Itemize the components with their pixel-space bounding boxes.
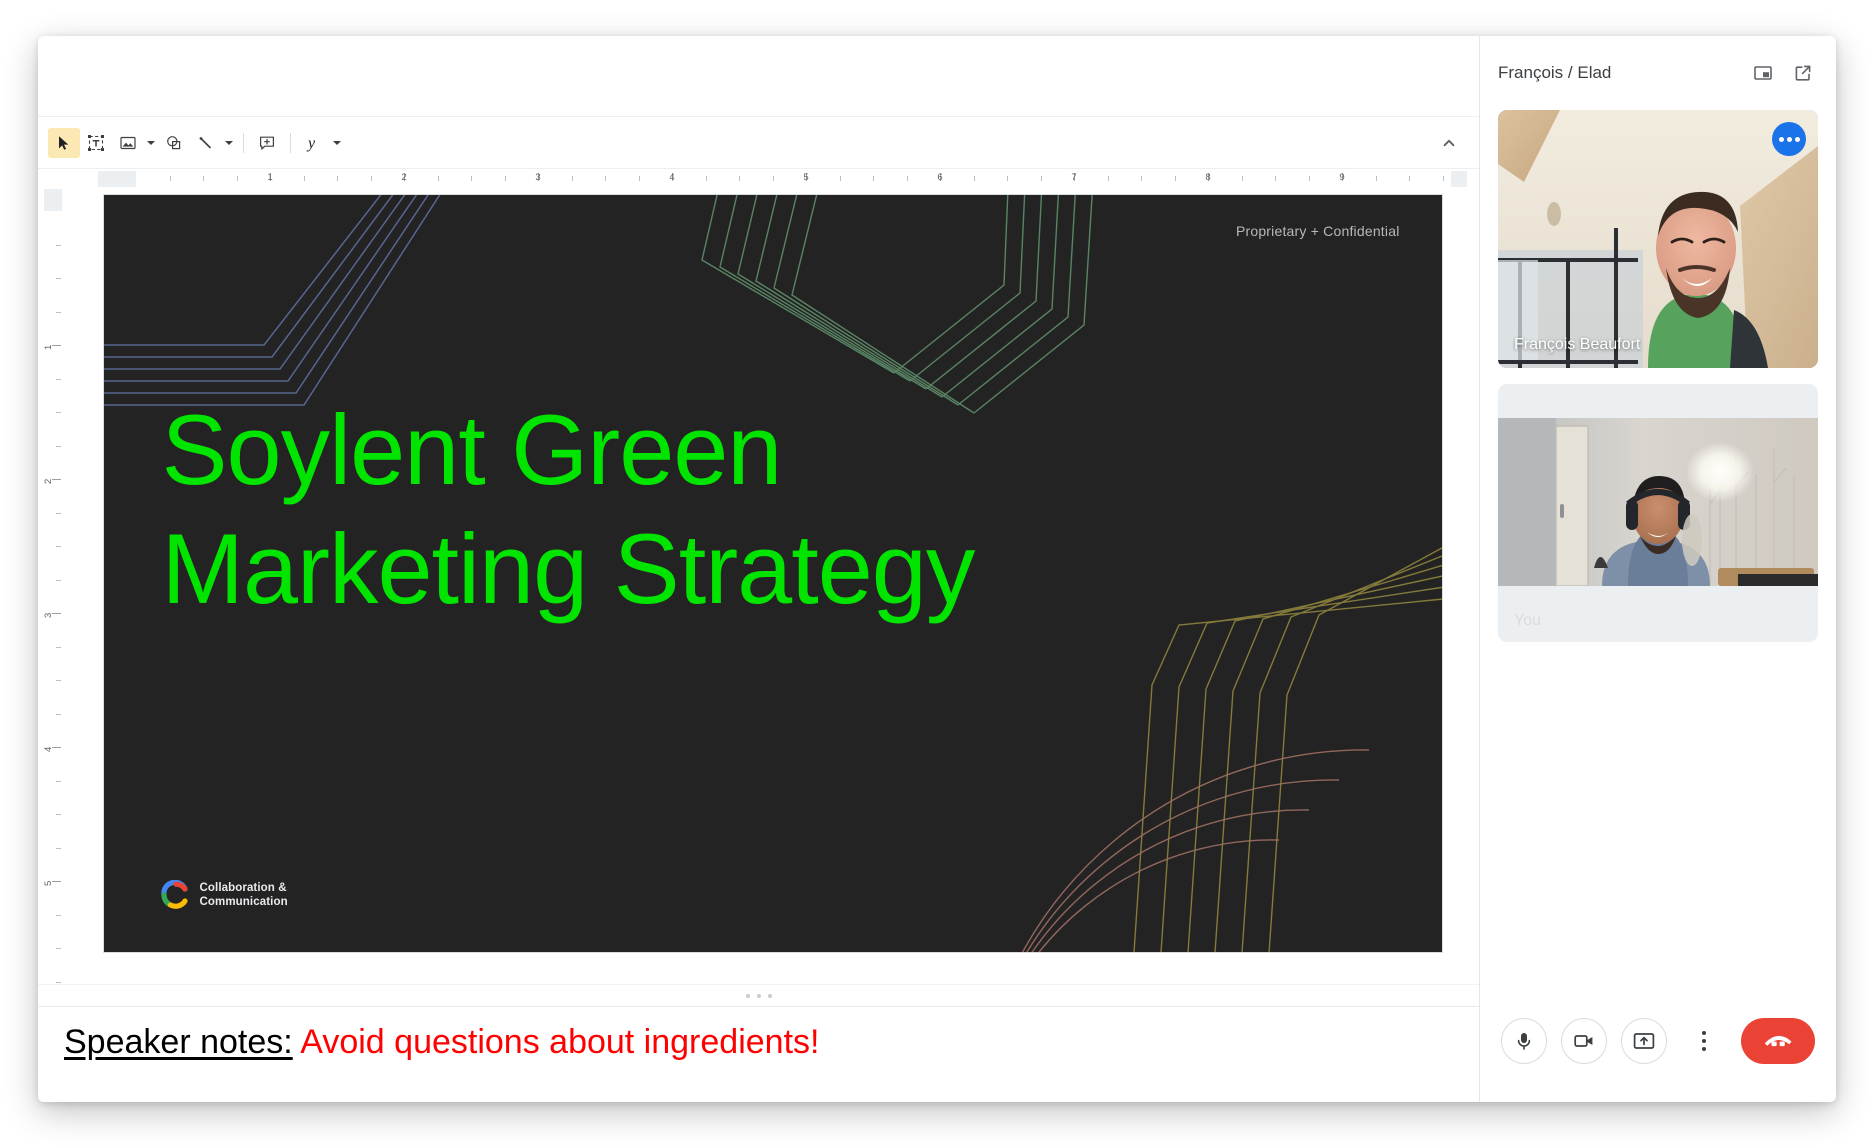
slide-title[interactable]: Soylent Green Marketing Strategy [162,391,1202,629]
ruler-number: 1 [43,345,54,350]
phone-hangup-icon [1762,1025,1794,1057]
ruler-number: 9 [1339,172,1344,183]
ruler-tick [170,176,171,181]
ruler-top-margin [44,189,62,211]
vertical-ruler[interactable]: 12345 [38,189,66,984]
comment-tool[interactable] [251,128,283,158]
participant-tile-you[interactable]: You [1498,384,1818,642]
ruler-tick [1141,176,1142,181]
ruler-number: 4 [43,747,54,752]
speaker-notes-label: Speaker notes: [64,1023,293,1061]
ruler-tick [56,312,61,313]
ruler-tick [56,446,61,447]
ruler-tick [56,948,61,949]
ruler-number: 5 [803,172,808,183]
notes-resize-handle[interactable] [38,984,1479,1006]
ruler-tick [1376,176,1377,181]
slide-canvas[interactable]: Proprietary + Confidential Soylent Green… [66,189,1479,984]
select-tool[interactable] [48,128,80,158]
ruler-tick [56,278,61,279]
present-button[interactable] [1621,1018,1667,1064]
speaker-notes-text: Avoid questions about ingredients! [300,1023,819,1061]
ruler-tick [56,379,61,380]
toolbar-divider [243,133,244,153]
ruler-tick [56,580,61,581]
video-feed-you-wrapper [1498,418,1818,586]
more-horizontal-icon [1779,137,1800,142]
ruler-number: 2 [43,479,54,484]
horizontal-ruler[interactable]: 123456789 [66,169,1479,189]
slide-logo: Collaboration & Communication [160,880,288,910]
pen-tool[interactable]: y [298,128,330,158]
ruler-tick [304,176,305,181]
meet-call-title: François / Elad [1498,63,1738,83]
ruler-tick [1242,176,1243,181]
pen-tool-dropdown[interactable] [330,128,344,158]
ruler-number: 7 [1071,172,1076,183]
image-tool-dropdown[interactable] [144,128,158,158]
tile-more-options-button[interactable] [1772,122,1806,156]
ruler-number: 3 [43,613,54,618]
ruler-tick [56,781,61,782]
meet-header: François / Elad [1480,36,1836,110]
participant-tile-francois[interactable]: François Beaufort [1498,110,1818,368]
slide-logo-text: Collaboration & Communication [200,881,288,910]
picture-in-picture-icon [1753,63,1773,83]
more-options-button[interactable] [1681,1018,1727,1064]
ruler-number: 3 [535,172,540,183]
cursor-arrow-icon [56,135,72,151]
ruler-tick [706,176,707,181]
ruler-left-margin [98,171,136,187]
present-screen-icon [1632,1029,1656,1053]
shape-icon [165,134,183,152]
slide-confidential-label: Proprietary + Confidential [1236,223,1400,239]
google-c-logo-icon [160,880,190,910]
ruler-number: 4 [669,172,674,183]
open-in-new-icon [1793,63,1813,83]
meet-controls [1480,992,1836,1102]
image-icon [119,134,137,152]
ruler-tick [337,176,338,181]
ruler-tick [56,680,61,681]
slide-title-line-1: Soylent Green [162,391,1202,510]
ruler-tick [56,915,61,916]
slide-surface[interactable]: Proprietary + Confidential Soylent Green… [104,195,1442,952]
ruler-number: 2 [401,172,406,183]
ruler-number: 6 [937,172,942,183]
image-tool[interactable] [112,128,144,158]
ruler-tick [1041,176,1042,181]
shape-tool[interactable] [158,128,190,158]
ruler-tick [1175,176,1176,181]
ruler-right-margin [1451,171,1467,187]
speaker-notes[interactable]: Speaker notes: Avoid questions about ing… [38,1006,1479,1102]
ruler-number: 5 [43,881,54,886]
ruler-tick [56,848,61,849]
ruler-tick [56,245,61,246]
ruler-number: 1 [267,172,272,183]
ruler-tick [1007,176,1008,181]
ruler-tick [56,714,61,715]
collapse-menus-button[interactable] [1435,129,1463,157]
text-box-icon [87,134,105,152]
ruler-tick [56,412,61,413]
microphone-icon [1513,1030,1535,1052]
participant-name-you: You [1514,612,1541,630]
ruler-tick [1108,176,1109,181]
camera-button[interactable] [1561,1018,1607,1064]
ruler-tick [974,176,975,181]
ruler-tick [1309,176,1310,181]
ruler-tick [505,176,506,181]
line-tool-dropdown[interactable] [222,128,236,158]
ruler-tick [56,513,61,514]
ruler-tick [56,647,61,648]
slide-logo-text-line-1: Collaboration & [200,881,288,895]
canvas-area: 12345 [38,189,1479,984]
chevron-up-icon [1441,135,1457,151]
slides-editor: y 123456789 12345 [38,36,1480,1102]
line-icon [197,134,215,152]
slides-toolbar: y [38,117,1479,169]
open-in-new-button[interactable] [1788,58,1818,88]
ruler-row: 123456789 [38,169,1479,189]
more-vertical-icon [1702,1031,1706,1051]
add-comment-icon [258,134,276,152]
participant-tiles: François Beaufort [1480,110,1836,992]
ruler-tick [572,176,573,181]
slide-title-line-2: Marketing Strategy [162,510,1202,629]
ruler-tick [840,176,841,181]
ruler-corner [38,169,66,189]
microphone-button[interactable] [1501,1018,1547,1064]
ruler-tick [907,176,908,181]
meet-panel: François / Elad [1480,36,1836,1102]
ruler-tick [56,814,61,815]
ruler-tick [1275,176,1276,181]
curve-pen-icon: y [304,133,324,153]
ruler-tick [873,176,874,181]
ruler-tick [438,176,439,181]
ruler-tick [56,982,61,983]
ruler-tick [605,176,606,181]
editor-top-strip [38,36,1479,117]
ruler-tick [1409,176,1410,181]
video-feed-francois [1498,110,1818,368]
slide-logo-text-line-2: Communication [200,895,288,909]
toolbar-divider-2 [290,133,291,153]
ruler-tick [471,176,472,181]
ruler-tick [739,176,740,181]
picture-in-picture-button[interactable] [1748,58,1778,88]
ruler-tick [203,176,204,181]
ruler-tick [237,176,238,181]
ruler-number: 8 [1205,172,1210,183]
ruler-tick [639,176,640,181]
ruler-tick [1443,176,1444,181]
hangup-button[interactable] [1741,1018,1815,1064]
video-camera-icon [1572,1029,1596,1053]
ruler-tick [773,176,774,181]
textbox-tool[interactable] [80,128,112,158]
ruler-tick [56,546,61,547]
line-tool[interactable] [190,128,222,158]
ruler-tick [371,176,372,181]
video-feed-you [1498,418,1818,586]
drag-handle-dots [746,994,772,998]
app-window: y 123456789 12345 [38,36,1836,1102]
svg-text:y: y [306,135,316,152]
